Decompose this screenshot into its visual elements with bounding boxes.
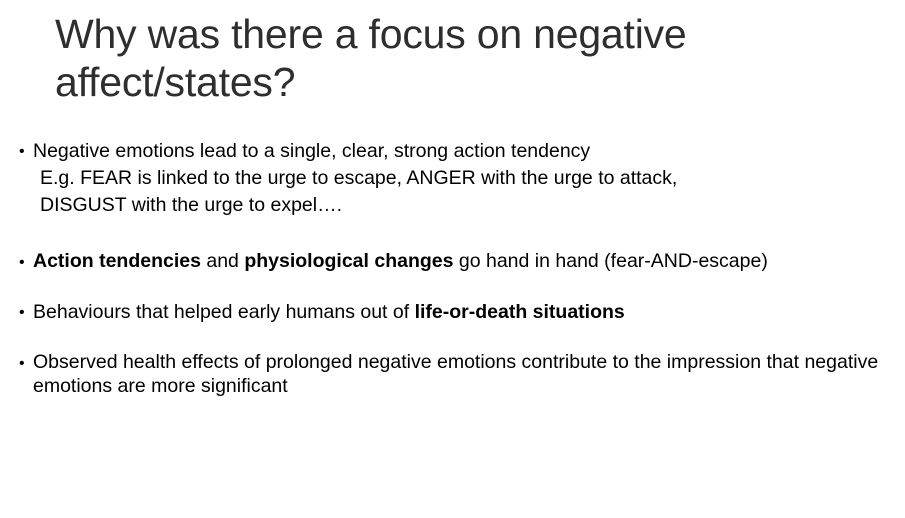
- spacer: [0, 326, 905, 350]
- bullet-behaviours: • Behaviours that helped early humans ou…: [0, 299, 905, 326]
- bullet-observed-health-effects: • Observed health effects of prolonged n…: [0, 350, 905, 398]
- bullet-action-tendencies-plain-1: and: [201, 250, 244, 272]
- spacer: [0, 219, 905, 249]
- bullet-action-tendencies-plain-2: go hand in hand (fear-AND-escape): [453, 250, 767, 272]
- bullet-negative-emotions-subline-2: DISGUST with the urge to expel….: [33, 192, 900, 219]
- bullet-marker-icon: •: [19, 138, 29, 165]
- bullet-marker-icon: •: [19, 299, 29, 326]
- slide-body: • Negative emotions lead to a single, cl…: [0, 138, 905, 398]
- bullet-action-tendencies-bold-1: Action tendencies: [33, 250, 201, 272]
- bullet-negative-emotions: • Negative emotions lead to a single, cl…: [0, 138, 905, 219]
- bullet-observed-health-effects-text: Observed health effects of prolonged neg…: [33, 351, 878, 397]
- bullet-behaviours-bold-1: life-or-death situations: [415, 301, 625, 323]
- bullet-marker-icon: •: [19, 350, 29, 377]
- bullet-behaviours-plain-1: Behaviours that helped early humans out …: [33, 301, 415, 323]
- bullet-negative-emotions-text: Negative emotions lead to a single, clea…: [33, 138, 900, 165]
- slide: Why was there a focus on negative affect…: [0, 0, 905, 518]
- bullet-action-tendencies: • Action tendencies and physiological ch…: [0, 249, 905, 273]
- bullet-marker-icon: •: [19, 249, 29, 276]
- bullet-action-tendencies-bold-2: physiological changes: [244, 250, 453, 272]
- page-title: Why was there a focus on negative affect…: [55, 10, 855, 106]
- bullet-negative-emotions-subline-1: E.g. FEAR is linked to the urge to escap…: [33, 165, 900, 192]
- spacer: [0, 273, 905, 299]
